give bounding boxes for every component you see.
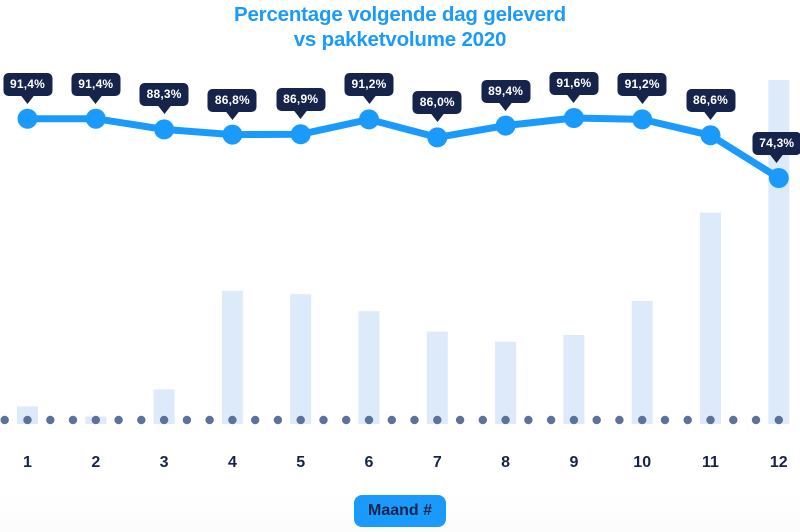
baseline-dot <box>706 416 714 424</box>
baseline-dot <box>137 416 145 424</box>
baseline-dot <box>570 416 578 424</box>
x-axis-tick-label: 5 <box>296 454 305 472</box>
baseline-dot <box>251 416 259 424</box>
data-point-marker[interactable] <box>86 109 106 129</box>
bar <box>222 291 243 424</box>
data-point-marker[interactable] <box>154 119 174 139</box>
baseline-dots <box>1 416 784 424</box>
data-point-marker[interactable] <box>632 109 652 129</box>
x-axis-tick-label: 6 <box>365 454 374 472</box>
value-label: 91,4% <box>3 73 52 96</box>
bar <box>632 301 653 424</box>
x-axis-tick-label: 12 <box>770 454 788 472</box>
value-label: 86,8% <box>208 89 257 112</box>
value-label: 91,6% <box>549 72 598 95</box>
data-point-marker[interactable] <box>222 125 242 145</box>
baseline-dot <box>615 416 623 424</box>
value-label: 86,9% <box>276 88 325 111</box>
baseline-dot <box>319 416 327 424</box>
data-point-marker[interactable] <box>427 127 447 147</box>
data-point-marker[interactable] <box>701 125 721 145</box>
baseline-dot <box>274 416 282 424</box>
x-axis-tick-label: 11 <box>702 454 719 472</box>
baseline-dot <box>388 416 396 424</box>
x-axis-tick-label: 7 <box>433 454 442 472</box>
x-axis-tick-label: 2 <box>91 454 100 472</box>
baseline-dot <box>114 416 122 424</box>
data-point-marker[interactable] <box>291 124 311 144</box>
value-label: 91,4% <box>71 73 120 96</box>
x-axis-tick-label: 10 <box>633 454 651 472</box>
baseline-dot <box>479 416 487 424</box>
baseline-dot <box>456 416 464 424</box>
baseline-dot <box>160 416 168 424</box>
x-axis-tick-label: 9 <box>569 454 578 472</box>
x-axis: 123456789101112 <box>0 454 800 480</box>
value-label: 91,2% <box>618 73 667 96</box>
baseline-dot <box>501 416 509 424</box>
bar <box>359 311 380 424</box>
baseline-dot <box>661 416 669 424</box>
chart-container: Percentage volgende dag geleverd vs pakk… <box>0 0 800 532</box>
baseline-dot <box>638 416 646 424</box>
data-point-marker[interactable] <box>496 116 516 136</box>
baseline-dot <box>433 416 441 424</box>
data-point-marker[interactable] <box>18 109 38 129</box>
baseline-dot <box>365 416 373 424</box>
x-axis-tick-label: 8 <box>501 454 510 472</box>
baseline-dot <box>342 416 350 424</box>
baseline-dot <box>228 416 236 424</box>
baseline-dot <box>92 416 100 424</box>
value-label: 91,2% <box>344 73 393 96</box>
baseline-dot <box>297 416 305 424</box>
baseline-dot <box>205 416 213 424</box>
bar <box>700 213 721 424</box>
baseline-dot <box>775 416 783 424</box>
bar <box>427 332 448 424</box>
value-label: 74,3% <box>752 132 800 155</box>
x-axis-title-pill[interactable]: Maand # <box>354 495 446 527</box>
line-series-markers <box>18 108 789 188</box>
baseline-dot <box>46 416 54 424</box>
baseline-dot <box>684 416 692 424</box>
value-label: 88,3% <box>140 83 189 106</box>
value-label: 86,6% <box>686 89 735 112</box>
baseline-dot <box>524 416 532 424</box>
data-point-marker[interactable] <box>769 168 789 188</box>
bar <box>563 335 584 424</box>
baseline-dot <box>729 416 737 424</box>
data-point-marker[interactable] <box>359 109 379 129</box>
baseline-dot <box>410 416 418 424</box>
baseline-dot <box>752 416 760 424</box>
value-label: 86,0% <box>413 91 462 114</box>
plot-area <box>0 0 800 440</box>
baseline-dot <box>593 416 601 424</box>
baseline-dot <box>183 416 191 424</box>
baseline-dot <box>69 416 77 424</box>
line-series-path <box>28 118 779 178</box>
baseline-dot <box>1 416 9 424</box>
bar <box>495 342 516 424</box>
bar <box>290 294 311 424</box>
x-axis-tick-label: 4 <box>228 454 237 472</box>
x-axis-tick-label: 1 <box>23 454 32 472</box>
baseline-dot <box>547 416 555 424</box>
baseline-dot <box>23 416 31 424</box>
value-label: 89,4% <box>481 80 530 103</box>
data-point-marker[interactable] <box>564 108 584 128</box>
x-axis-tick-label: 3 <box>160 454 169 472</box>
